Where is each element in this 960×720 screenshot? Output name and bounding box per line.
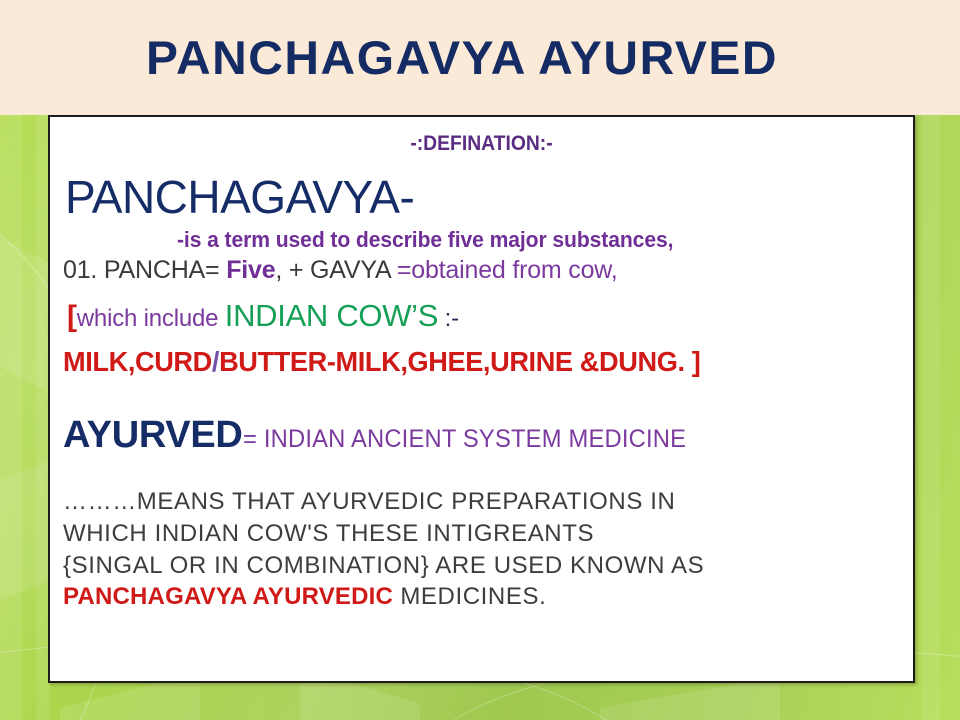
pancha-label: 01. PANCHA= (63, 256, 226, 284)
ingredients-part2: BUTTER-MILK,GHEE,URINE &DUNG. ] (219, 346, 700, 377)
include-suffix: :- (438, 305, 459, 332)
page-title: PANCHAGAVYA AYURVED (146, 34, 778, 81)
ingredients-line: MILK,CURD/BUTTER-MILK,GHEE,URINE &DUNG. … (63, 346, 888, 378)
slide-canvas: PANCHAGAVYA AYURVED -:DEFINATION:- PANCH… (0, 0, 960, 720)
medicines-label: MEDICINES. (393, 583, 546, 610)
ayurved-definition: = INDIAN ANCIENT SYSTEM MEDICINE (243, 425, 686, 454)
content-card: -:DEFINATION:- PANCHAGAVYA- -is a term u… (48, 115, 915, 683)
ingredients-slash: / (212, 346, 219, 377)
summary-line-1: ………MEANS THAT AYURVEDIC PREPARATIONS IN (63, 486, 913, 518)
indian-cows-label: INDIAN COW’S (225, 298, 438, 333)
term-heading: PANCHAGAVYA- (65, 173, 913, 221)
open-bracket: [ (67, 300, 77, 333)
panchagavya-ayurvedic-label: PANCHAGAVYA AYURVEDIC (63, 583, 393, 610)
summary-line-2: WHICH INDIAN COW'S THESE INTIGREANTS (63, 518, 913, 550)
include-prefix: which include (77, 305, 225, 332)
summary-paragraph: ………MEANS THAT AYURVEDIC PREPARATIONS IN … (63, 486, 913, 613)
summary-line-4: PANCHAGAVYA AYURVEDIC MEDICINES. (63, 581, 913, 613)
header-banner: PANCHAGAVYA AYURVED (0, 0, 960, 115)
pancha-value: Five (226, 256, 275, 284)
gavya-label: , + GAVYA (275, 256, 396, 284)
pancha-definition-line: 01. PANCHA= Five, + GAVYA =obtained from… (63, 256, 913, 285)
summary-line-3: {SINGAL OR IN COMBINATION} ARE USED KNOW… (63, 550, 913, 582)
ingredients-part1: MILK,CURD (63, 346, 212, 377)
ayurved-label: AYURVED (63, 414, 243, 456)
ayurved-line: AYURVED = INDIAN ANCIENT SYSTEM MEDICINE (63, 414, 913, 457)
definition-heading: -:DEFINATION:- (85, 132, 879, 156)
term-subtitle: -is a term used to describe five major s… (177, 227, 884, 253)
gavya-value: =obtained from cow, (397, 256, 618, 284)
content-card-inner: -:DEFINATION:- PANCHAGAVYA- -is a term u… (50, 132, 913, 683)
include-line: [which include INDIAN COW’S :- (67, 298, 913, 334)
